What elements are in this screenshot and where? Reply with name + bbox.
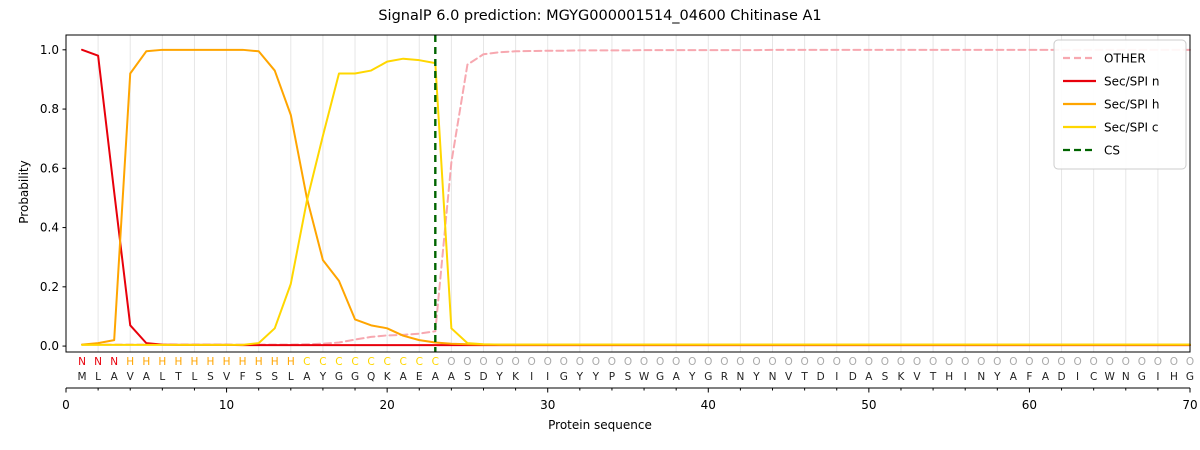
svg-text:30: 30	[540, 398, 555, 412]
annotation-letter: O	[1138, 356, 1146, 368]
signalp-prediction-figure: SignalP 6.0 prediction: MGYG000001514_04…	[0, 0, 1200, 450]
legend-label-sec-spi-c: Sec/SPI c	[1104, 121, 1158, 135]
sequence-letter: V	[913, 371, 921, 383]
annotation-letter: O	[1186, 356, 1194, 368]
annotation-letter: H	[271, 356, 279, 368]
legend-label-cs: CS	[1104, 144, 1120, 158]
sequence-letter: N	[1122, 371, 1130, 383]
sequence-letter: I	[1076, 371, 1079, 383]
sequence-letter: V	[785, 371, 793, 383]
sequence-letter: D	[479, 371, 487, 383]
sequence-letter: G	[335, 371, 343, 383]
sequence-letter: A	[143, 371, 151, 383]
sequence-letter: V	[127, 371, 135, 383]
annotation-letter: O	[1073, 356, 1081, 368]
annotation-letter: O	[961, 356, 969, 368]
annotation-letter: O	[784, 356, 792, 368]
sequence-letter: Q	[367, 371, 375, 383]
annotation-letter: O	[1041, 356, 1049, 368]
annotation-letter: H	[223, 356, 231, 368]
annotation-letter: H	[142, 356, 150, 368]
annotation-letter: O	[929, 356, 937, 368]
annotation-letter: O	[897, 356, 905, 368]
annotation-letter: H	[255, 356, 263, 368]
sequence-letter: G	[704, 371, 712, 383]
series-sec-spi-h	[82, 50, 1190, 345]
annotation-letter: O	[688, 356, 696, 368]
annotation-letter: C	[416, 356, 423, 368]
annotation-letter: C	[400, 356, 407, 368]
annotation-letter: O	[608, 356, 616, 368]
sequence-letter: D	[1057, 371, 1065, 383]
annotation-letter: O	[1154, 356, 1162, 368]
sequence-letter: Y	[576, 371, 584, 383]
sequence-letter: W	[1105, 371, 1116, 383]
svg-text:50: 50	[861, 398, 876, 412]
annotation-letter: O	[881, 356, 889, 368]
sequence-letter: C	[1090, 371, 1097, 383]
sequence-letter: N	[769, 371, 777, 383]
svg-text:0.0: 0.0	[40, 339, 59, 353]
legend-label-sec-spi-n: Sec/SPI n	[1104, 75, 1159, 89]
sequence-letter: G	[1138, 371, 1146, 383]
plot-frame	[66, 35, 1190, 352]
annotation-letter: O	[849, 356, 857, 368]
annotation-letter: O	[544, 356, 552, 368]
annotation-letter: O	[833, 356, 841, 368]
annotation-letter: H	[174, 356, 182, 368]
sequence-letter: K	[512, 371, 520, 383]
annotation-letter: O	[800, 356, 808, 368]
annotation-row: NNNHHHHHHHHHHHCCCCCCCCCOOOOOOOOOOOOOOOOO…	[78, 356, 1194, 368]
annotation-letter: O	[736, 356, 744, 368]
annotation-letter: C	[432, 356, 439, 368]
sequence-letter: F	[240, 371, 246, 383]
sequence-letter: G	[560, 371, 568, 383]
annotation-letter: O	[1025, 356, 1033, 368]
annotation-letter: O	[560, 356, 568, 368]
x-axis-ticks: 010203040506070	[62, 388, 1197, 412]
sequence-letter: H	[945, 371, 953, 383]
svg-text:0: 0	[62, 398, 70, 412]
annotation-letter: O	[720, 356, 728, 368]
annotation-letter: H	[158, 356, 166, 368]
svg-text:70: 70	[1182, 398, 1197, 412]
sequence-letter: L	[192, 371, 198, 383]
annotation-letter: C	[367, 356, 374, 368]
sequence-letter: Y	[752, 371, 760, 383]
annotation-letter: O	[1009, 356, 1017, 368]
annotation-letter: H	[126, 356, 134, 368]
sequence-letter: A	[111, 371, 119, 383]
y-axis-ticks: 0.00.20.40.60.81.0	[40, 43, 66, 353]
annotation-letter: O	[528, 356, 536, 368]
sequence-letter: A	[865, 371, 873, 383]
annotation-letter: C	[383, 356, 390, 368]
sequence-letter: I	[1156, 371, 1159, 383]
annotation-letter: O	[817, 356, 825, 368]
annotation-letter: H	[287, 356, 295, 368]
annotation-letter: O	[479, 356, 487, 368]
annotation-letter: N	[78, 356, 86, 368]
legend: OTHERSec/SPI nSec/SPI hSec/SPI cCS	[1054, 40, 1186, 169]
sequence-letter: A	[432, 371, 440, 383]
sequence-letter: A	[400, 371, 408, 383]
sequence-letter: N	[977, 371, 985, 383]
svg-text:60: 60	[1022, 398, 1037, 412]
sequence-letter: S	[464, 371, 471, 383]
sequence-letter: I	[530, 371, 533, 383]
sequence-letter: K	[898, 371, 906, 383]
sequence-letter: T	[929, 371, 937, 383]
svg-text:0.4: 0.4	[40, 221, 59, 235]
annotation-letter: O	[1106, 356, 1114, 368]
annotation-letter: O	[1170, 356, 1178, 368]
annotation-letter: O	[752, 356, 760, 368]
annotation-letter: H	[207, 356, 215, 368]
svg-text:1.0: 1.0	[40, 43, 59, 57]
annotation-letter: O	[913, 356, 921, 368]
annotation-letter: O	[945, 356, 953, 368]
annotation-letter: N	[110, 356, 118, 368]
sequence-letter: T	[174, 371, 182, 383]
sequence-letter: D	[849, 371, 857, 383]
annotation-letter: O	[1057, 356, 1065, 368]
data-series-layer	[82, 50, 1190, 345]
sequence-letter: D	[817, 371, 825, 383]
annotation-letter: C	[351, 356, 358, 368]
sequence-letter: M	[78, 371, 87, 383]
annotation-letter: C	[335, 356, 342, 368]
annotation-letter: O	[463, 356, 471, 368]
sequence-row: MLAVALTLSVFSSLAYGGQKAEAASDYKIIGYYPSWGAYG…	[78, 371, 1195, 383]
sequence-letter: L	[288, 371, 294, 383]
series-other	[82, 50, 1190, 345]
sequence-letter: Y	[495, 371, 503, 383]
sequence-letter: N	[736, 371, 744, 383]
annotation-letter: O	[977, 356, 985, 368]
sequence-letter: Y	[993, 371, 1001, 383]
sequence-letter: A	[673, 371, 681, 383]
sequence-letter: L	[95, 371, 101, 383]
sequence-letter: P	[609, 371, 615, 383]
legend-label-other: OTHER	[1104, 52, 1146, 66]
annotation-letter: O	[1090, 356, 1098, 368]
annotation-letter: O	[511, 356, 519, 368]
annotation-letter: O	[704, 356, 712, 368]
series-sec-spi-n	[82, 50, 1190, 345]
annotation-letter: O	[624, 356, 632, 368]
sequence-letter: F	[1026, 371, 1032, 383]
svg-text:20: 20	[380, 398, 395, 412]
sequence-letter: W	[639, 371, 650, 383]
annotation-letter: O	[865, 356, 873, 368]
annotation-letter: O	[768, 356, 776, 368]
sequence-letter: G	[351, 371, 359, 383]
annotation-letter: O	[495, 356, 503, 368]
sequence-letter: A	[1010, 371, 1018, 383]
annotation-letter: C	[303, 356, 310, 368]
annotation-letter: O	[576, 356, 584, 368]
annotation-letter: C	[319, 356, 326, 368]
sequence-letter: G	[656, 371, 664, 383]
svg-text:10: 10	[219, 398, 234, 412]
annotation-letter: H	[191, 356, 199, 368]
sequence-letter: G	[1186, 371, 1194, 383]
annotation-letter: O	[1122, 356, 1130, 368]
annotation-letter: O	[656, 356, 664, 368]
sequence-letter: E	[416, 371, 423, 383]
sequence-letter: H	[1170, 371, 1178, 383]
sequence-letter: T	[800, 371, 808, 383]
annotation-letter: O	[640, 356, 648, 368]
annotation-letter: N	[94, 356, 102, 368]
sequence-letter: K	[384, 371, 392, 383]
legend-label-sec-spi-h: Sec/SPI h	[1104, 98, 1159, 112]
svg-text:0.2: 0.2	[40, 280, 59, 294]
annotation-letter: O	[993, 356, 1001, 368]
annotation-letter: H	[239, 356, 247, 368]
sequence-letter: S	[882, 371, 889, 383]
sequence-letter: Y	[688, 371, 696, 383]
sequence-letter: R	[721, 371, 728, 383]
sequence-letter: A	[448, 371, 456, 383]
svg-text:0.6: 0.6	[40, 161, 59, 175]
annotation-letter: O	[672, 356, 680, 368]
svg-text:0.8: 0.8	[40, 102, 59, 116]
annotation-letter: O	[592, 356, 600, 368]
sequence-letter: A	[1042, 371, 1050, 383]
plot-canvas: 0.00.20.40.60.81.0 010203040506070 NNNHH…	[0, 0, 1200, 450]
annotation-letter: O	[447, 356, 455, 368]
sequence-letter: L	[159, 371, 165, 383]
grid-lines	[98, 35, 1190, 352]
sequence-letter: I	[546, 371, 549, 383]
sequence-letter: S	[271, 371, 278, 383]
sequence-letter: V	[223, 371, 231, 383]
svg-text:40: 40	[701, 398, 716, 412]
sequence-letter: S	[255, 371, 262, 383]
sequence-letter: A	[303, 371, 311, 383]
sequence-letter: I	[964, 371, 967, 383]
sequence-letter: S	[207, 371, 214, 383]
series-sec-spi-c	[82, 59, 1190, 345]
sequence-letter: Y	[319, 371, 327, 383]
sequence-letter: Y	[592, 371, 600, 383]
sequence-letter: S	[625, 371, 632, 383]
sequence-letter: I	[835, 371, 838, 383]
